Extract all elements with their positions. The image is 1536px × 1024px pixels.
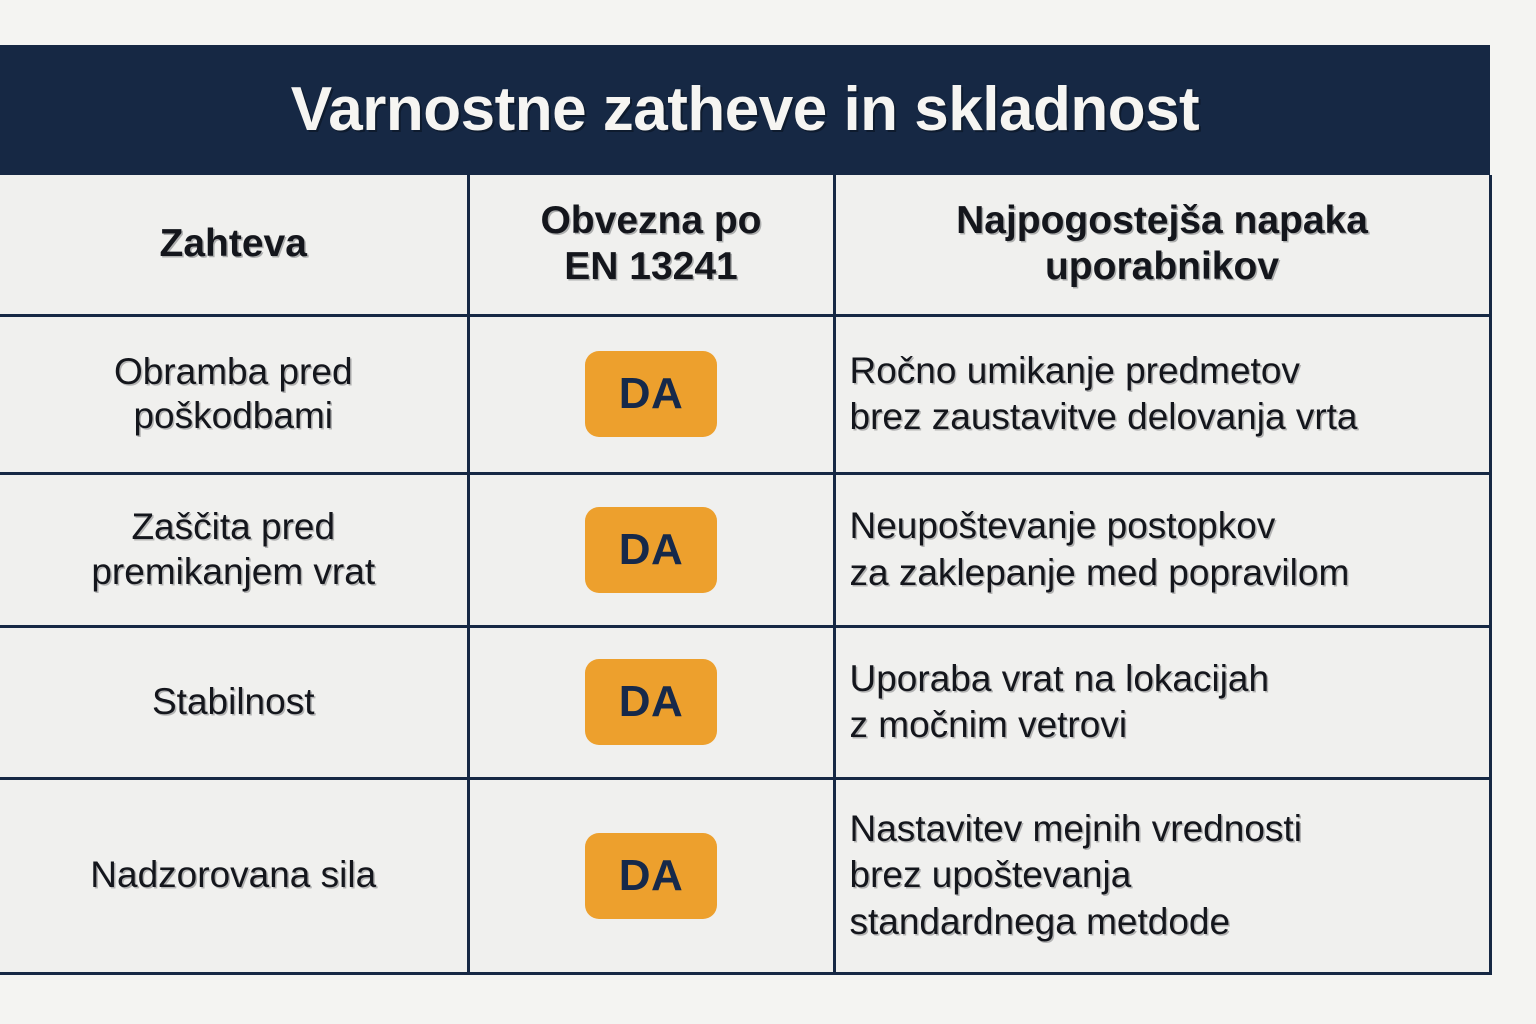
requirement-line-2: premikanjem vrat [14, 550, 453, 594]
cell-mandatory: DA [468, 315, 834, 473]
column-header-mistake-line-1: Najpogostejša napaka [850, 198, 1475, 244]
status-badge: DA [585, 507, 717, 593]
cell-requirement: Obramba pred poškodbami [0, 315, 468, 473]
status-badge: DA [585, 833, 717, 919]
table-header-row: Zahteva Obvezna po EN 13241 Najpogostejš… [0, 175, 1490, 315]
mistake-line-1: Nastavitev mejnih vrednosti [850, 806, 1475, 852]
title-banner: Varnostne zatheve in skladnost [0, 45, 1490, 175]
requirement-line-1: Obramba pred [14, 350, 453, 394]
mistake-line-3: standardnega metdode [850, 899, 1475, 945]
status-badge: DA [585, 659, 717, 745]
mistake-line-1: Ročno umikanje predmetov [850, 348, 1475, 394]
cell-mistake: Nastavitev mejnih vrednosti brez upoštev… [834, 778, 1490, 973]
table-row: Zaščita pred premikanjem vrat DA Neupošt… [0, 473, 1490, 626]
cell-mistake: Uporaba vrat na lokacijah z močnim vetro… [834, 626, 1490, 778]
mistake-line-2: brez zaustavitve delovanja vrta [850, 394, 1475, 440]
cell-mandatory: DA [468, 626, 834, 778]
mistake-line-2: brez upoštevanja [850, 852, 1475, 898]
mistake-line-2: z močnim vetrovi [850, 702, 1475, 748]
requirement-line-1: Nadzorovana sila [14, 853, 453, 897]
column-header-mandatory-line-2: EN 13241 [484, 244, 819, 290]
cell-mistake: Neupoštevanje postopkov za zaklepanje me… [834, 473, 1490, 626]
page-title: Varnostne zatheve in skladnost [291, 77, 1199, 142]
cell-requirement: Zaščita pred premikanjem vrat [0, 473, 468, 626]
column-header-requirement-line-1: Zahteva [14, 221, 453, 267]
infographic-table-page: Varnostne zatheve in skladnost Zahteva O… [0, 0, 1536, 1024]
mistake-line-2: za zaklepanje med popravilom [850, 550, 1475, 596]
cell-mandatory: DA [468, 778, 834, 973]
cell-mistake: Ročno umikanje predmetov brez zaustavitv… [834, 315, 1490, 473]
mistake-line-1: Uporaba vrat na lokacijah [850, 656, 1475, 702]
column-header-mandatory: Obvezna po EN 13241 [468, 175, 834, 315]
column-header-requirement: Zahteva [0, 175, 468, 315]
column-header-mistake: Najpogostejša napaka uporabnikov [834, 175, 1490, 315]
requirements-table: Zahteva Obvezna po EN 13241 Najpogostejš… [0, 175, 1492, 975]
cell-mandatory: DA [468, 473, 834, 626]
status-badge: DA [585, 351, 717, 437]
requirement-line-1: Stabilnost [14, 680, 453, 724]
column-header-mistake-line-2: uporabnikov [850, 244, 1475, 290]
table-row: Obramba pred poškodbami DA Ročno umikanj… [0, 315, 1490, 473]
cell-requirement: Nadzorovana sila [0, 778, 468, 973]
table-row: Stabilnost DA Uporaba vrat na lokacijah … [0, 626, 1490, 778]
requirement-line-1: Zaščita pred [14, 505, 453, 549]
column-header-mandatory-line-1: Obvezna po [484, 198, 819, 244]
table-row: Nadzorovana sila DA Nastavitev mejnih vr… [0, 778, 1490, 973]
cell-requirement: Stabilnost [0, 626, 468, 778]
mistake-line-1: Neupoštevanje postopkov [850, 503, 1475, 549]
requirement-line-2: poškodbami [14, 394, 453, 438]
